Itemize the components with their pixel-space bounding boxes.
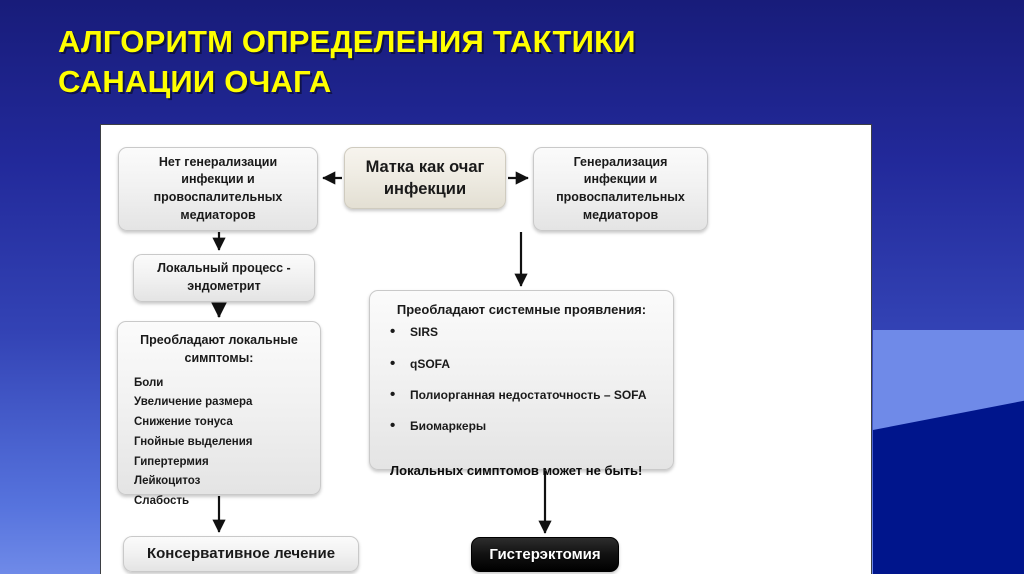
list-item: Увеличение размера xyxy=(134,393,320,413)
local-sym-header-2: симптомы: xyxy=(185,351,254,365)
list-item: SIRS xyxy=(388,326,673,339)
list-item: Гнойные выделения xyxy=(134,433,320,453)
node-hysterectomy-label: Гистерэктомия xyxy=(472,544,618,565)
list-item: Слабость xyxy=(134,492,320,512)
no-gen-line-2: инфекции и xyxy=(181,172,254,186)
uterus-line-2: инфекции xyxy=(384,180,466,198)
page-title-line-1: АЛГОРИТМ ОПРЕДЕЛЕНИЯ ТАКТИКИ xyxy=(58,22,848,62)
slide-canvas: АЛГОРИТМ ОПРЕДЕЛЕНИЯ ТАКТИКИ САНАЦИИ ОЧА… xyxy=(0,0,1024,574)
node-no-generalization[interactable]: Нет генерализации инфекции и провоспалит… xyxy=(118,147,318,231)
list-item: qSOFA xyxy=(388,358,673,371)
local-sym-header-1: Преобладают локальные xyxy=(140,333,298,347)
flowchart: Нет генерализации инфекции и провоспалит… xyxy=(101,125,871,574)
list-item: Полиорганная недостаточность – SOFA xyxy=(388,389,673,402)
no-gen-line-4: медиаторов xyxy=(180,208,255,222)
node-hysterectomy[interactable]: Гистерэктомия xyxy=(471,537,619,572)
page-title-line-2: САНАЦИИ ОЧАГА xyxy=(58,62,848,102)
node-conservative-treatment-label: Консервативное лечение xyxy=(124,543,358,564)
node-conservative-treatment[interactable]: Консервативное лечение xyxy=(123,536,359,572)
uterus-line-1: Матка как очаг xyxy=(366,158,485,176)
local-line-1: Локальный процесс - xyxy=(157,261,290,275)
node-local-symptoms[interactable]: Преобладают локальные симптомы: Боли Уве… xyxy=(117,321,321,495)
systemic-items-list: SIRS qSOFA Полиорганная недостаточность … xyxy=(370,326,673,451)
list-item: Биомаркеры xyxy=(388,420,673,433)
node-local-process[interactable]: Локальный процесс - эндометрит xyxy=(133,254,315,302)
no-gen-line-1: Нет генерализации xyxy=(159,155,277,169)
list-item: Лейкоцитоз xyxy=(134,472,320,492)
node-systemic-manifestations[interactable]: Преобладают системные проявления: SIRS q… xyxy=(369,290,674,470)
systemic-footnote: Локальных симптомов может не быть! xyxy=(370,463,673,478)
gen-line-2: инфекции и xyxy=(584,172,657,186)
local-line-2: эндометрит xyxy=(187,279,260,293)
diagram-panel: Нет генерализации инфекции и провоспалит… xyxy=(100,124,872,574)
node-uterus-label: Матка как очаг инфекции xyxy=(345,156,505,201)
node-local-symptoms-header: Преобладают локальные симптомы: xyxy=(118,332,320,368)
gen-line-4: медиаторов xyxy=(583,208,658,222)
page-title: АЛГОРИТМ ОПРЕДЕЛЕНИЯ ТАКТИКИ САНАЦИИ ОЧА… xyxy=(58,22,848,101)
no-gen-line-3: провоспалительных xyxy=(154,190,283,204)
list-item: Снижение тонуса xyxy=(134,413,320,433)
node-systemic-header: Преобладают системные проявления: xyxy=(370,301,673,319)
node-no-generalization-label: Нет генерализации инфекции и провоспалит… xyxy=(119,154,317,225)
local-symptoms-list: Боли Увеличение размера Снижение тонуса … xyxy=(118,374,320,512)
list-item: Гипертермия xyxy=(134,453,320,473)
node-generalization-label: Генерализация инфекции и провоспалительн… xyxy=(534,154,707,225)
gen-line-1: Генерализация xyxy=(574,155,668,169)
node-uterus-as-focus[interactable]: Матка как очаг инфекции xyxy=(344,147,506,209)
list-item: Боли xyxy=(134,374,320,394)
gen-line-3: провоспалительных xyxy=(556,190,685,204)
node-generalization[interactable]: Генерализация инфекции и провоспалительн… xyxy=(533,147,708,231)
node-local-process-label: Локальный процесс - эндометрит xyxy=(134,260,314,296)
